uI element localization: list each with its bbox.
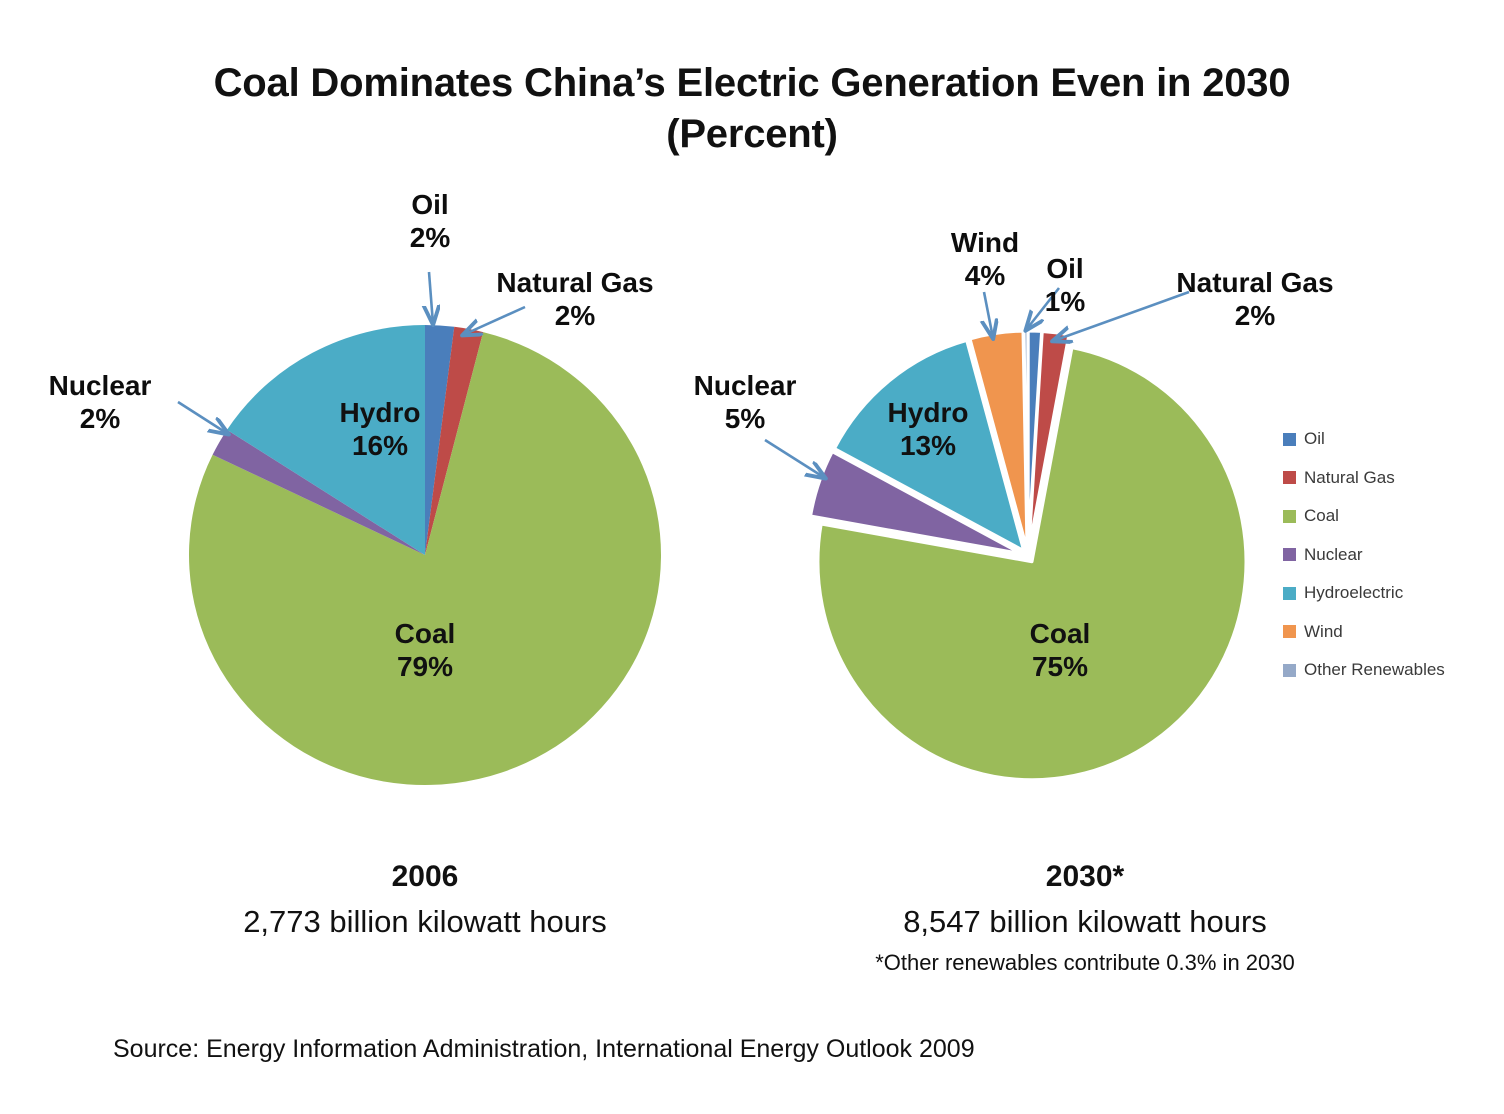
legend-item-oil[interactable]: Oil bbox=[1283, 420, 1493, 459]
callout-nuclear-label-2006: Nuclear bbox=[49, 370, 152, 401]
slice-label-hydro-value-2006: 16% bbox=[300, 429, 460, 462]
slice-label-coal-value-2006: 79% bbox=[345, 650, 505, 683]
callout-oil-2030: Oil 1% bbox=[1010, 252, 1120, 318]
legend-swatch-icon bbox=[1283, 548, 1296, 561]
caption-year-2030: 2030* bbox=[760, 860, 1410, 894]
legend-item-wind[interactable]: Wind bbox=[1283, 613, 1493, 652]
legend-swatch-icon bbox=[1283, 587, 1296, 600]
caption-sub-2030: 8,547 billion kilowatt hours bbox=[760, 904, 1410, 940]
slice-label-coal-name-2006: Coal bbox=[395, 618, 456, 649]
legend-item-hydroelectric[interactable]: Hydroelectric bbox=[1283, 574, 1493, 613]
callout-oil-label-2006: Oil bbox=[411, 189, 448, 220]
slice-label-coal-name-2030: Coal bbox=[1030, 618, 1091, 649]
slice-label-hydro-name-2006: Hydro bbox=[340, 397, 421, 428]
callout-oil-2006: Oil 2% bbox=[355, 188, 505, 254]
caption-sub-2006: 2,773 billion kilowatt hours bbox=[100, 904, 750, 940]
callout-natural-gas-label-2030: Natural Gas bbox=[1176, 267, 1333, 298]
callout-oil-value-2006: 2% bbox=[355, 221, 505, 254]
callout-nuclear-value-2006: 2% bbox=[20, 402, 180, 435]
caption-year-2006: 2006 bbox=[100, 860, 750, 894]
legend-swatch-icon bbox=[1283, 664, 1296, 677]
callout-oil-label-2030: Oil bbox=[1046, 253, 1083, 284]
legend-item-label: Hydroelectric bbox=[1304, 583, 1403, 603]
chart-legend: OilNatural GasCoalNuclearHydroelectricWi… bbox=[1283, 420, 1493, 690]
callout-nuclear-value-2030: 5% bbox=[660, 402, 830, 435]
legend-item-label: Oil bbox=[1304, 429, 1325, 449]
slice-label-hydro-2006: Hydro 16% bbox=[300, 396, 460, 462]
legend-item-label: Coal bbox=[1304, 506, 1339, 526]
callout-wind-label-2030: Wind bbox=[951, 227, 1019, 258]
legend-swatch-icon bbox=[1283, 625, 1296, 638]
callout-nuclear-2030: Nuclear 5% bbox=[660, 369, 830, 435]
legend-item-label: Natural Gas bbox=[1304, 468, 1395, 488]
source-line: Source: Energy Information Administratio… bbox=[113, 1035, 975, 1064]
callout-nuclear-2006: Nuclear 2% bbox=[20, 369, 180, 435]
slice-label-hydro-2030: Hydro 13% bbox=[848, 396, 1008, 462]
caption-2030: 2030* 8,547 billion kilowatt hours *Othe… bbox=[760, 860, 1410, 976]
callout-natural-gas-label-2006: Natural Gas bbox=[496, 267, 653, 298]
legend-swatch-icon bbox=[1283, 433, 1296, 446]
legend-item-label: Nuclear bbox=[1304, 545, 1363, 565]
caption-footnote-2030: *Other renewables contribute 0.3% in 203… bbox=[760, 950, 1410, 976]
callout-natural-gas-value-2030: 2% bbox=[1140, 299, 1370, 332]
legend-item-label: Other Renewables bbox=[1304, 660, 1445, 680]
callout-oil-value-2030: 1% bbox=[1010, 285, 1120, 318]
slice-label-coal-2030: Coal 75% bbox=[980, 617, 1140, 683]
legend-item-natural-gas[interactable]: Natural Gas bbox=[1283, 459, 1493, 498]
legend-item-label: Wind bbox=[1304, 622, 1343, 642]
legend-item-other-renewables[interactable]: Other Renewables bbox=[1283, 651, 1493, 690]
legend-item-nuclear[interactable]: Nuclear bbox=[1283, 536, 1493, 575]
slice-label-coal-value-2030: 75% bbox=[980, 650, 1140, 683]
slice-label-hydro-value-2030: 13% bbox=[848, 429, 1008, 462]
legend-swatch-icon bbox=[1283, 471, 1296, 484]
callout-natural-gas-2006: Natural Gas 2% bbox=[460, 266, 690, 332]
slice-label-coal-2006: Coal 79% bbox=[345, 617, 505, 683]
legend-item-coal[interactable]: Coal bbox=[1283, 497, 1493, 536]
caption-2006: 2006 2,773 billion kilowatt hours bbox=[100, 860, 750, 940]
callout-natural-gas-value-2006: 2% bbox=[460, 299, 690, 332]
callout-natural-gas-2030: Natural Gas 2% bbox=[1140, 266, 1370, 332]
legend-swatch-icon bbox=[1283, 510, 1296, 523]
callout-nuclear-label-2030: Nuclear bbox=[694, 370, 797, 401]
slice-label-hydro-name-2030: Hydro bbox=[888, 397, 969, 428]
